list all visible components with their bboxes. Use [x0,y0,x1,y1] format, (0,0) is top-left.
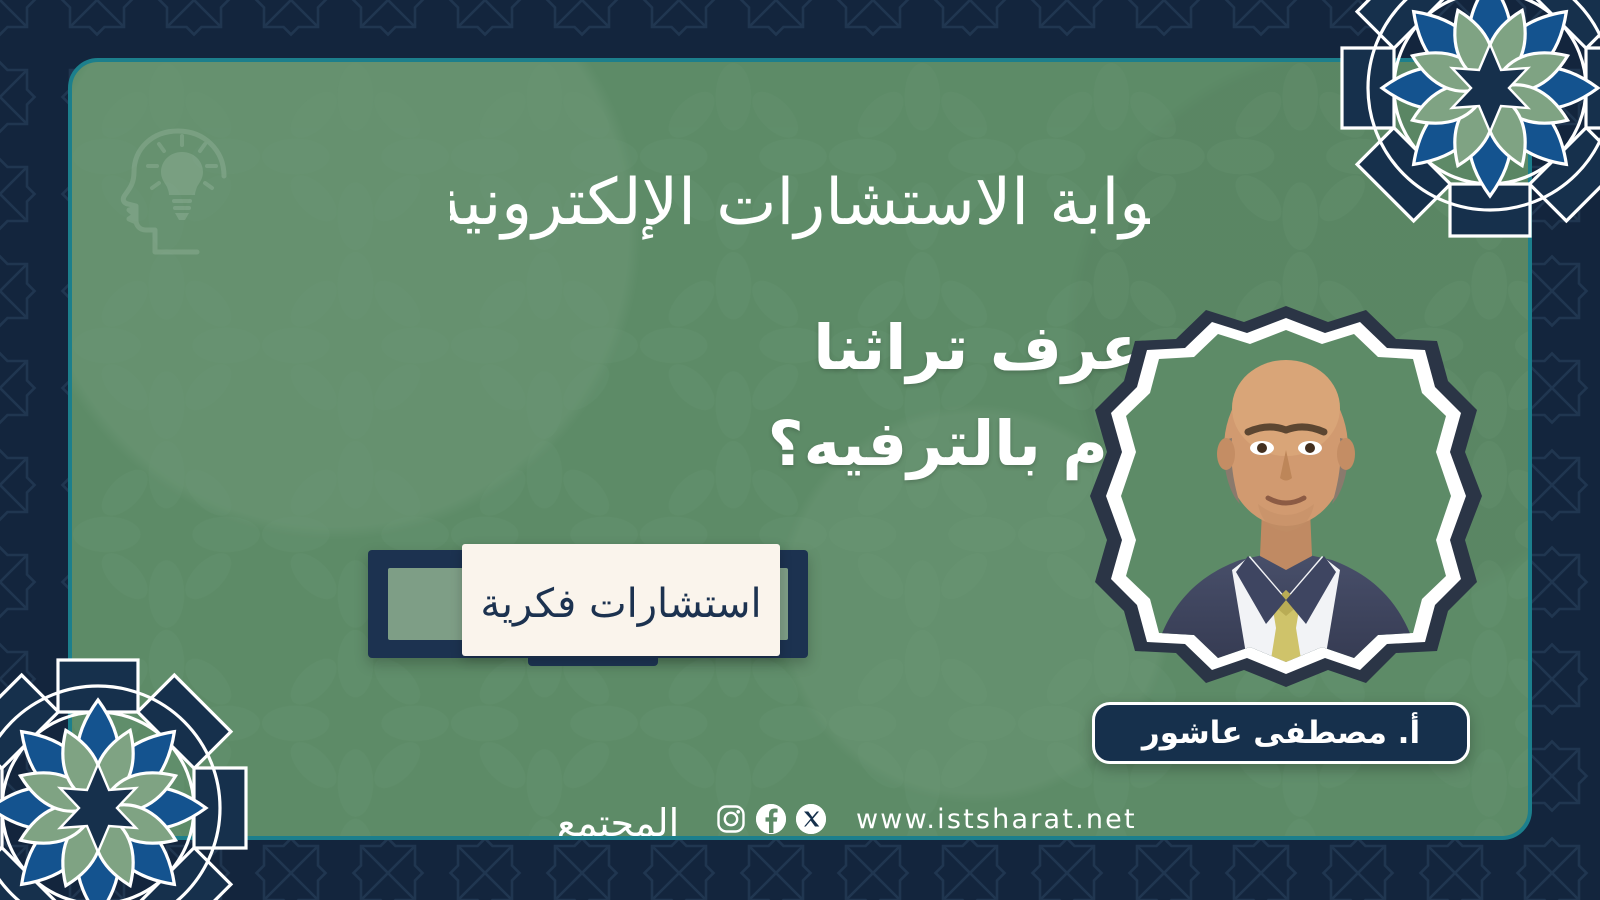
avatar [1090,298,1482,702]
x-glyph [796,804,826,834]
speaker-name: أ. مصطفى عاشور [1142,715,1420,751]
facebook-glyph [756,804,786,834]
geometric-rosette-icon [1340,0,1600,238]
consultation-label-text: استشارات فكرية [480,581,761,627]
status-badge: أ. مصطفى عاشور [1092,702,1470,764]
poster-canvas: بوابة الاستشارات الإلكترونية هل عرف تراث… [0,0,1600,900]
rosette-top-right [1340,0,1600,238]
facebook-icon[interactable] [756,804,786,834]
x-twitter-icon[interactable] [796,804,826,834]
social-links [716,804,826,834]
main-card: بوابة الاستشارات الإلكترونية هل عرف تراث… [68,58,1532,840]
website-url[interactable]: www.istsharat.net [856,804,1137,835]
monitor-stand [528,656,658,666]
society-logo: المجتمع [550,784,686,840]
instagram-icon[interactable] [716,804,746,834]
consultation-banner-group: استشارات فكرية [368,550,808,668]
consultation-label-calligraphy: استشارات فكرية [476,557,766,643]
instagram-glyph [716,804,746,834]
portrait-frame [1090,298,1482,702]
rosette-bottom-left [0,658,248,900]
head-lightbulb-icon [112,114,252,264]
footer-bar: المجتمع [550,784,1137,840]
society-logo-text: المجتمع [557,801,679,840]
consultation-label-banner: استشارات فكرية [462,544,780,656]
geometric-rosette-icon [0,658,248,900]
